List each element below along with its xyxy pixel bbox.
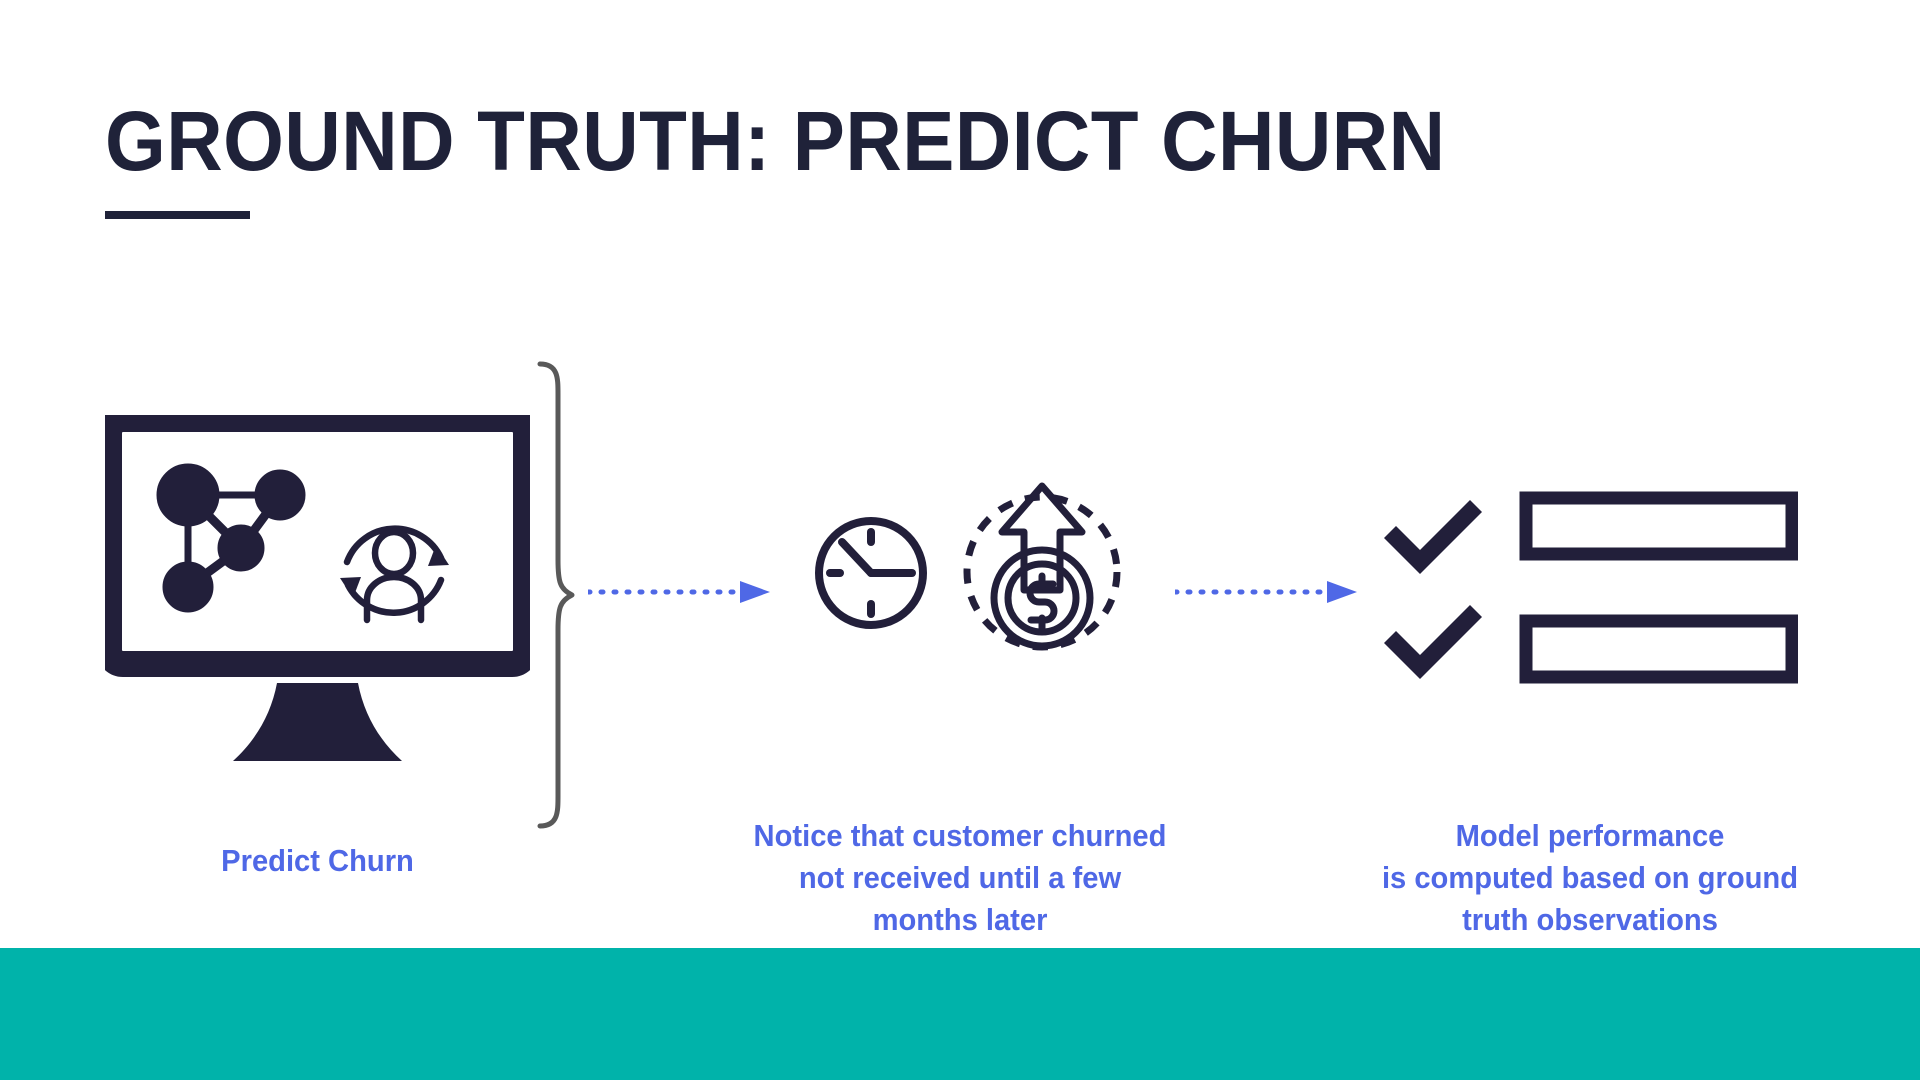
caption-churn-notice-delay: Notice that customer churned not receive… [744,815,1176,941]
monitor-stand [233,683,402,761]
graph-node [255,470,305,520]
checkmark-icon [1384,500,1482,574]
caption-line: truth observations [1346,899,1835,941]
caption-line: Predict Churn [118,840,518,882]
step-predict-churn [105,415,530,790]
diagram-area: Predict Churn Notice that customer churn… [0,0,1920,948]
money-growth-icon [967,486,1117,647]
clock-icon [819,521,923,625]
step-churn-notice-delay [810,480,1150,665]
connector-arrow-1 [588,578,773,606]
caption-predict-churn: Predict Churn [118,840,518,882]
connector-arrow-2 [1175,578,1360,606]
footer-accent-band [0,948,1920,1080]
graph-node [157,464,219,526]
caption-line: Model performance [1346,815,1835,857]
time-and-money-icons [810,480,1150,665]
caption-line: months later [744,899,1176,941]
checklist-icon [1378,480,1798,695]
monitor-icon [105,415,530,790]
step-model-performance [1378,480,1798,695]
checkmark-icon [1384,605,1482,679]
bar-outline-icon [1526,498,1792,554]
caption-line: not received until a few [744,857,1176,899]
slide-canvas: GROUND TRUTH: PREDICT CHURN [0,0,1920,1080]
graph-node [163,562,213,612]
caption-line: Notice that customer churned [744,815,1176,857]
caption-model-performance: Model performance is computed based on g… [1346,815,1835,941]
caption-line: is computed based on ground [1346,857,1835,899]
graph-node [218,525,264,571]
bar-outline-icon [1526,621,1792,677]
curly-brace [530,360,575,830]
